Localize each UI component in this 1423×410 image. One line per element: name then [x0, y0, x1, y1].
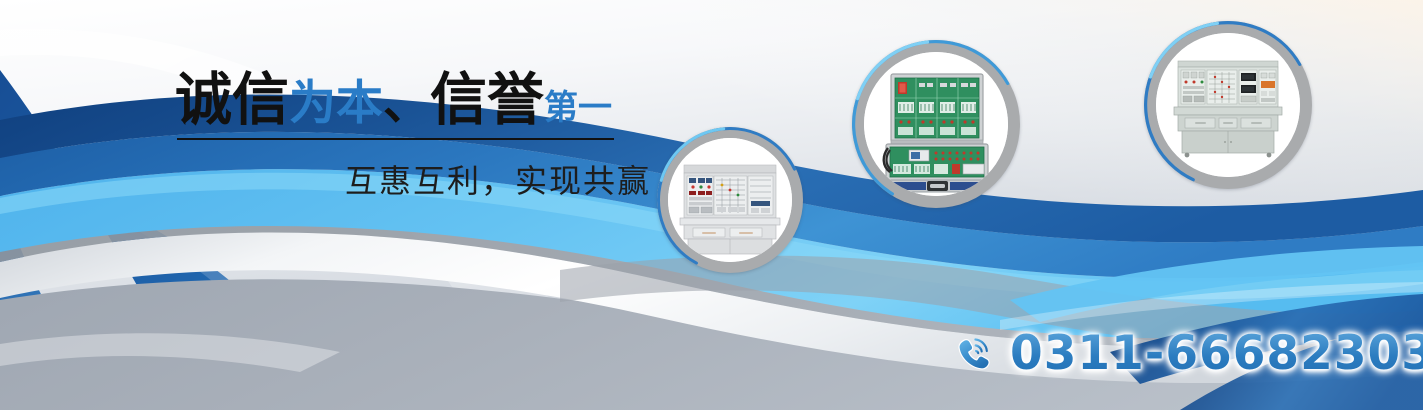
headline-separator: 、: [383, 76, 430, 129]
product-image-3[interactable]: [1156, 33, 1300, 177]
product-image-2[interactable]: [864, 52, 1008, 196]
headline: 诚信为本、信誉第一: [175, 72, 635, 129]
headline-part-4: 信誉: [430, 68, 544, 132]
phone-number: 0311-66682303: [1010, 326, 1423, 381]
headline-part-2: 为本: [289, 76, 383, 129]
slogan-block: 诚信为本、信誉第一 互惠互利，实现共赢: [175, 72, 635, 129]
product-image-1[interactable]: [668, 138, 792, 262]
phone-call-icon: [952, 332, 996, 376]
headline-divider: [177, 138, 614, 140]
subtitle: 互惠互利，实现共赢: [345, 156, 651, 202]
promo-banner: 诚信为本、信誉第一 互惠互利，实现共赢: [0, 0, 1423, 410]
headline-part-5: 第一: [544, 89, 612, 127]
contact-phone[interactable]: 0311-66682303: [952, 326, 1423, 381]
headline-part-1: 诚信: [175, 68, 289, 132]
